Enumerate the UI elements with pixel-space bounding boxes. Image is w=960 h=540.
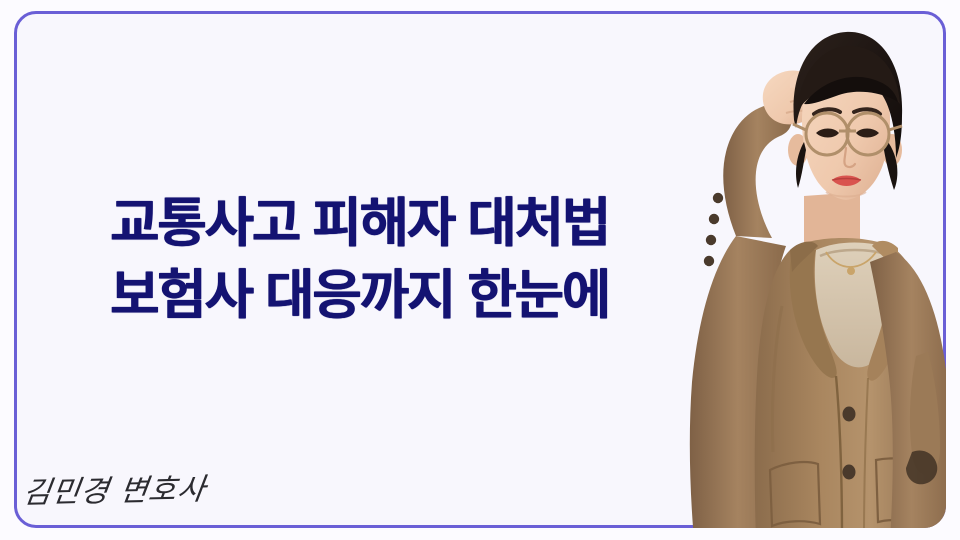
thumbnail-canvas: 교통사고 피해자 대처법 보험사 대응까지 한눈에 김민경 변호사 [0, 0, 960, 540]
headline-line-2: 보험사 대응까지 한눈에 [40, 260, 680, 332]
person-portrait [640, 0, 960, 540]
headline-block: 교통사고 피해자 대처법 보험사 대응까지 한눈에 [40, 188, 680, 332]
headline-line-1: 교통사고 피해자 대처법 [40, 188, 680, 260]
signature-name: 김민경 변호사 [21, 464, 210, 512]
